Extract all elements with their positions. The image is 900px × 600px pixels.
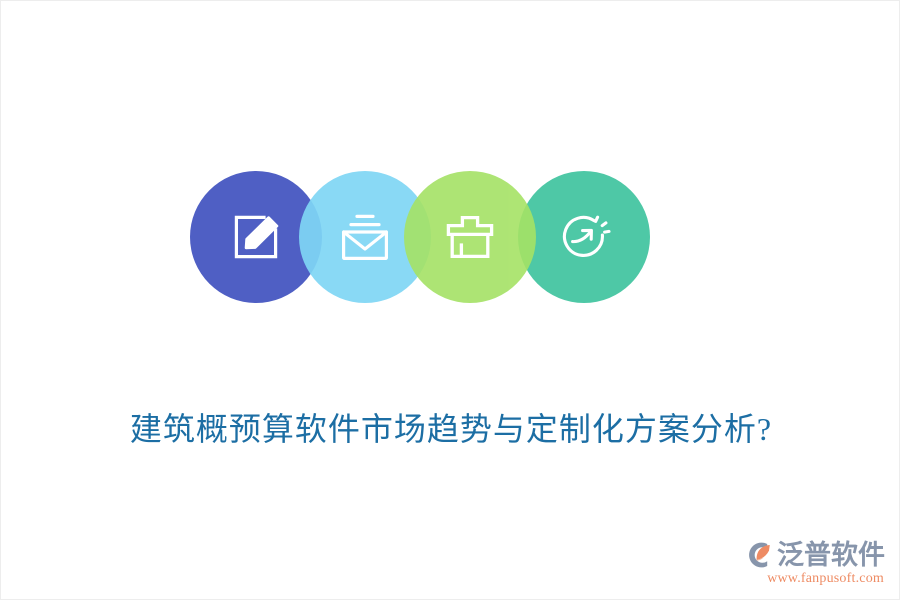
brand-name: 泛普软件 (777, 540, 885, 570)
fanpu-c-mark-icon (744, 540, 774, 570)
feature-circle-shop[interactable] (404, 171, 536, 303)
brand-website-url[interactable]: www.fanpusoft.com (767, 571, 884, 587)
storefront-icon (404, 171, 536, 303)
growth-arrow-circle-icon (518, 171, 650, 303)
brand-logo[interactable]: 泛普软件 www.fanpusoft.com (744, 540, 885, 587)
feature-circle-cluster (190, 171, 650, 303)
page-title: 建筑概预算软件市场趋势与定制化方案分析? (1, 408, 900, 450)
screenshot-canvas: 建筑概预算软件市场趋势与定制化方案分析? 泛普软件 www.fanpusoft.… (0, 0, 900, 600)
feature-circle-chart[interactable] (518, 171, 650, 303)
brand-logo-row: 泛普软件 (744, 540, 885, 570)
